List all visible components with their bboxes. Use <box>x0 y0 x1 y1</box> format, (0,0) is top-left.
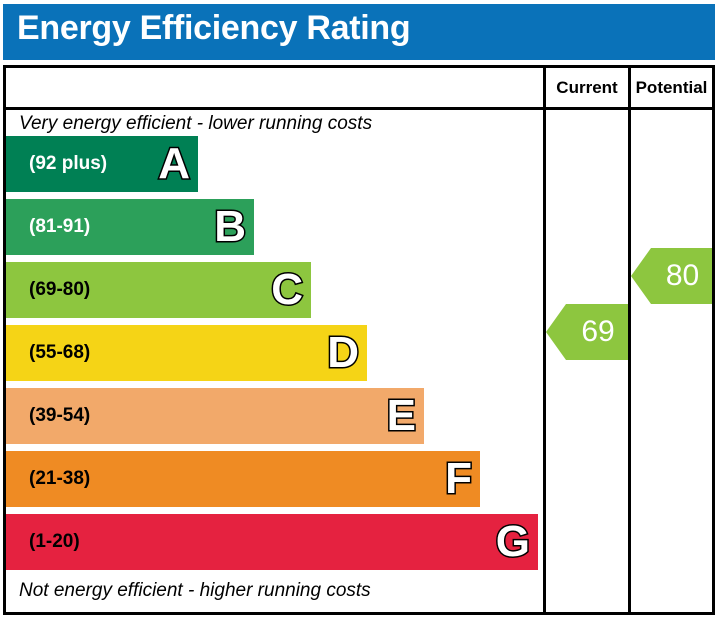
band-letter-g: G <box>496 520 530 564</box>
column-header-potential: Potential <box>631 68 712 107</box>
chart-title-bar: Energy Efficiency Rating <box>3 4 715 60</box>
potential-column-divider <box>628 68 631 612</box>
rating-band-b: (81-91)B <box>6 199 254 255</box>
potential-rating-arrow: 80 <box>631 248 712 304</box>
caption-bottom: Not energy efficient - higher running co… <box>19 580 371 602</box>
rating-bands: (92 plus)A(81-91)B(69-80)C(55-68)D(39-54… <box>6 136 546 576</box>
band-letter-b: B <box>214 205 246 249</box>
current-rating-value: 69 <box>546 317 628 347</box>
column-header-current: Current <box>546 68 628 107</box>
header-row-divider <box>6 107 712 110</box>
band-range-label: (81-91) <box>29 216 90 238</box>
energy-efficiency-rating-chart: Energy Efficiency Rating Current Potenti… <box>0 0 718 619</box>
band-range-label: (92 plus) <box>29 153 107 175</box>
band-letter-f: F <box>445 457 472 501</box>
rating-band-e: (39-54)E <box>6 388 424 444</box>
chart-table-frame: Current Potential Very energy efficient … <box>3 65 715 615</box>
rating-band-g: (1-20)G <box>6 514 538 570</box>
rating-band-c: (69-80)C <box>6 262 311 318</box>
band-range-label: (55-68) <box>29 342 90 364</box>
band-letter-d: D <box>327 331 359 375</box>
potential-rating-value: 80 <box>631 261 712 291</box>
band-letter-a: A <box>158 142 190 186</box>
band-letter-c: C <box>271 268 303 312</box>
rating-band-d: (55-68)D <box>6 325 367 381</box>
band-letter-e: E <box>387 394 416 438</box>
current-rating-arrow: 69 <box>546 304 628 360</box>
band-range-label: (21-38) <box>29 468 90 490</box>
rating-band-a: (92 plus)A <box>6 136 198 192</box>
band-range-label: (1-20) <box>29 531 80 553</box>
band-range-label: (69-80) <box>29 279 90 301</box>
caption-top: Very energy efficient - lower running co… <box>19 113 372 135</box>
page-title: Energy Efficiency Rating <box>17 9 410 48</box>
band-range-label: (39-54) <box>29 405 90 427</box>
rating-band-f: (21-38)F <box>6 451 480 507</box>
